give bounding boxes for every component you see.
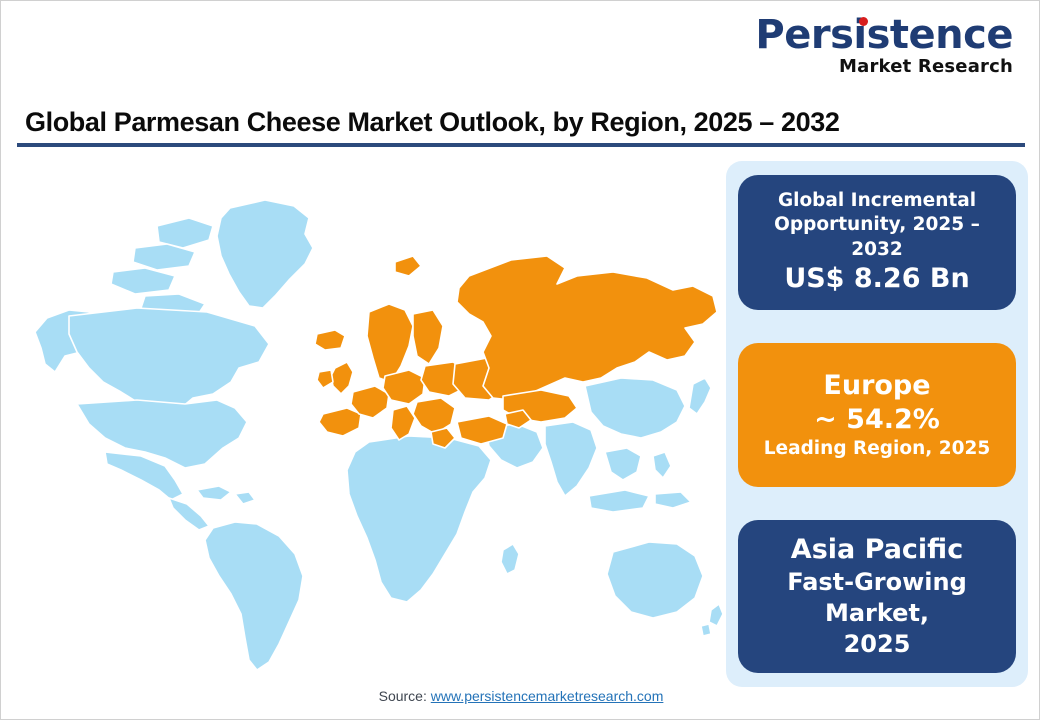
opportunity-label-line2: Opportunity, 2025 – 2032 [750, 213, 1004, 262]
region-indonesia-1 [589, 490, 649, 512]
region-ireland [317, 370, 333, 388]
region-united-kingdom [331, 362, 353, 394]
region-benelux-germany [383, 370, 425, 404]
region-balkans [413, 398, 455, 434]
world-map [17, 156, 723, 676]
opportunity-value: US$ 8.26 Bn [784, 262, 969, 296]
infographic-page: Persistence Market Research Global Parme… [0, 0, 1040, 720]
region-russia [457, 256, 717, 400]
stats-panel: Global Incremental Opportunity, 2025 – 2… [726, 161, 1028, 687]
region-japan [689, 378, 711, 414]
stat-card-global-incremental-opportunity: Global Incremental Opportunity, 2025 – 2… [738, 175, 1016, 310]
region-finland [413, 310, 443, 364]
region-canada-arctic-3 [111, 268, 175, 294]
title-underline-rule [17, 143, 1025, 147]
region-central-america [169, 498, 209, 530]
map-base-regions [35, 200, 723, 670]
region-caribbean-1 [197, 486, 231, 500]
region-philippines [653, 452, 671, 478]
opportunity-label-line1: Global Incremental [778, 189, 976, 213]
stat-card-leading-region: Europe ~ 54.2% Leading Region, 2025 [738, 343, 1016, 487]
company-logo: Persistence Market Research [755, 15, 1013, 76]
region-africa [347, 436, 491, 602]
region-southeast-asia [605, 448, 641, 480]
logo-subtitle: Market Research [755, 58, 1013, 76]
growth-caption-line2: 2025 [844, 629, 911, 660]
region-new-zealand [709, 604, 723, 626]
page-title: Global Parmesan Cheese Market Outlook, b… [25, 107, 839, 138]
logo-wordmark-label: Persistence [755, 12, 1013, 58]
region-italy [391, 406, 415, 440]
world-map-svg [17, 156, 723, 676]
leading-region-caption: Leading Region, 2025 [764, 437, 990, 461]
leading-region-name: Europe [823, 369, 930, 403]
logo-wordmark-text: Persistence [755, 15, 1013, 55]
region-iceland [315, 330, 345, 350]
region-svalbard [395, 256, 421, 276]
region-indonesia-2 [655, 492, 691, 508]
region-caribbean-2 [235, 492, 255, 504]
region-greenland [217, 200, 313, 308]
source-label: Source: [379, 688, 427, 704]
region-south-america [205, 522, 303, 670]
region-iberia [319, 408, 361, 436]
region-south-asia [545, 422, 597, 496]
region-east-asia [585, 378, 685, 438]
region-usa [77, 400, 247, 468]
region-new-zealand-2 [701, 624, 711, 636]
region-australia [607, 542, 703, 618]
growth-caption-line1: Fast-Growing Market, [750, 567, 1004, 629]
region-canada [69, 308, 269, 408]
growth-region-name: Asia Pacific [791, 533, 963, 567]
region-madagascar [501, 544, 519, 574]
source-url-link[interactable]: www.persistencemarketresearch.com [431, 688, 664, 704]
source-attribution: Source: www.persistencemarketresearch.co… [1, 688, 1040, 704]
leading-region-share: ~ 54.2% [814, 403, 940, 437]
stat-card-fast-growing-market: Asia Pacific Fast-Growing Market, 2025 [738, 520, 1016, 673]
